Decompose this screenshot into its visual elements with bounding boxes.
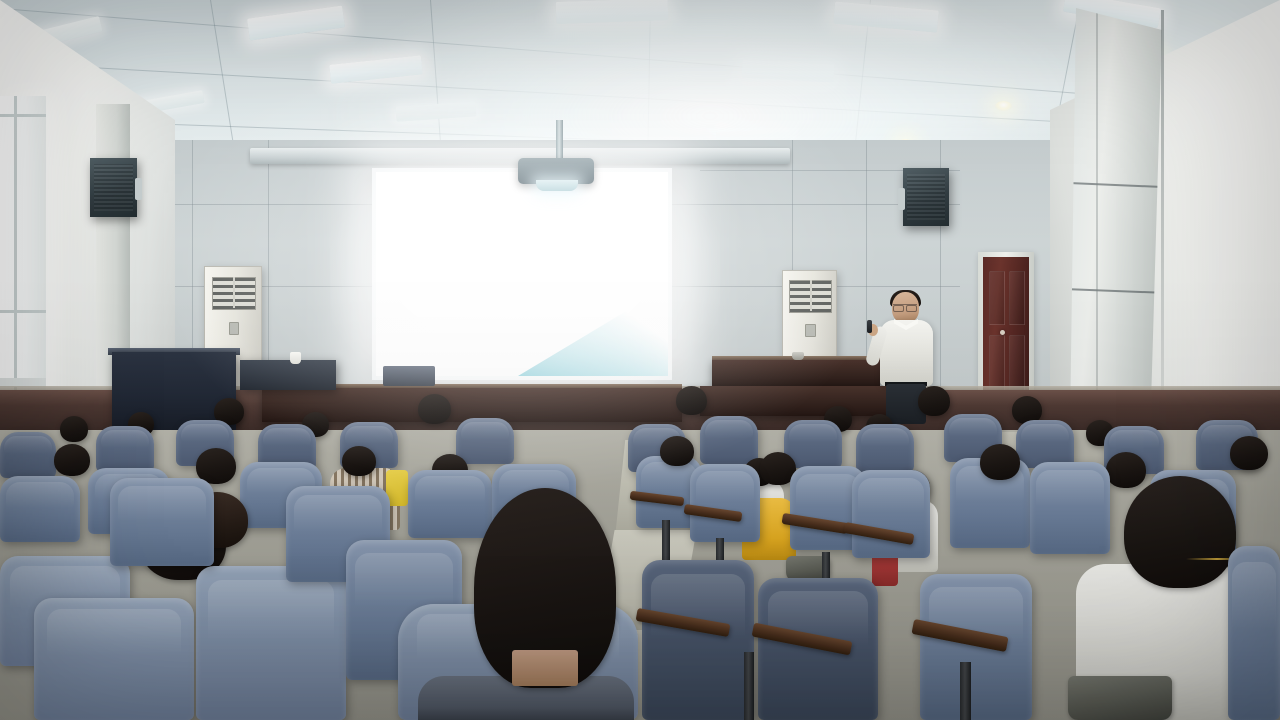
auditorium-seat[interactable] xyxy=(690,464,760,542)
speaker-grille-icon xyxy=(94,164,133,211)
auditorium-seat[interactable] xyxy=(852,470,930,558)
auditorium-seat[interactable] xyxy=(642,560,754,720)
auditorium-seat[interactable] xyxy=(1030,462,1110,554)
ac-control-panel[interactable] xyxy=(229,322,240,335)
left-window xyxy=(0,96,46,426)
auditorium-seat[interactable] xyxy=(96,426,154,472)
auditorium-seat[interactable] xyxy=(0,476,80,542)
auditorium-seat[interactable] xyxy=(34,598,194,720)
auditorium-seat[interactable] xyxy=(920,574,1032,720)
audience-head xyxy=(1230,436,1268,470)
audience-head xyxy=(676,386,707,415)
auditorium-seat[interactable] xyxy=(856,424,914,472)
podium-side-table xyxy=(240,360,336,390)
projector-lens-icon xyxy=(536,180,578,191)
audience-head xyxy=(918,386,950,416)
ac-louver-divider xyxy=(810,280,812,311)
door-panel xyxy=(1009,271,1025,325)
bag-foreground xyxy=(1068,676,1172,720)
right-wall-pilaster xyxy=(1070,8,1162,438)
auditorium-seat[interactable] xyxy=(110,478,214,566)
lecture-hall-photo: A speaker stands beside a podium at the … xyxy=(0,0,1280,720)
speaker-bracket xyxy=(135,178,142,200)
auditorium-seat[interactable] xyxy=(1016,420,1074,468)
audience-head xyxy=(54,444,90,476)
audience-head xyxy=(1124,476,1236,588)
auditorium-seat[interactable] xyxy=(1228,546,1280,720)
front-desk-right xyxy=(712,360,880,388)
audience-head xyxy=(60,416,88,442)
auditorium-seat[interactable] xyxy=(456,418,514,464)
projection-screen[interactable] xyxy=(376,172,668,376)
door-panel xyxy=(989,271,1005,325)
seat-leg xyxy=(960,662,971,720)
auditorium-seat[interactable] xyxy=(196,566,346,720)
speaker-bracket xyxy=(898,188,905,210)
ac-control-panel[interactable] xyxy=(805,324,815,337)
wall-speaker-left xyxy=(90,158,137,217)
front-monitor xyxy=(383,366,435,386)
audience-head xyxy=(660,436,694,466)
pilaster-edge xyxy=(1161,10,1164,438)
front-desk-right-lower xyxy=(700,386,900,416)
remote-pointer-icon[interactable] xyxy=(867,320,872,333)
podium-cup xyxy=(290,352,301,364)
audience-head xyxy=(980,444,1020,480)
seat-leg xyxy=(744,652,754,720)
presenter-shirt xyxy=(880,320,933,386)
auditorium-seat[interactable] xyxy=(408,470,492,538)
ac-louver-divider xyxy=(233,277,235,309)
wall-speaker-right xyxy=(903,168,949,226)
audience-head xyxy=(342,446,376,476)
audience-head xyxy=(1106,452,1146,488)
auditorium-seat[interactable] xyxy=(700,416,758,464)
downlight-icon xyxy=(995,101,1012,111)
speaker-grille-icon xyxy=(907,174,946,220)
auditorium-seat[interactable] xyxy=(0,432,56,478)
desk-object xyxy=(792,352,804,360)
audience-neck xyxy=(512,650,578,686)
audience-head xyxy=(418,394,451,424)
door-knob-icon[interactable] xyxy=(1000,330,1005,335)
glasses-icon xyxy=(893,304,917,310)
screen-slide-graphic xyxy=(518,286,668,376)
